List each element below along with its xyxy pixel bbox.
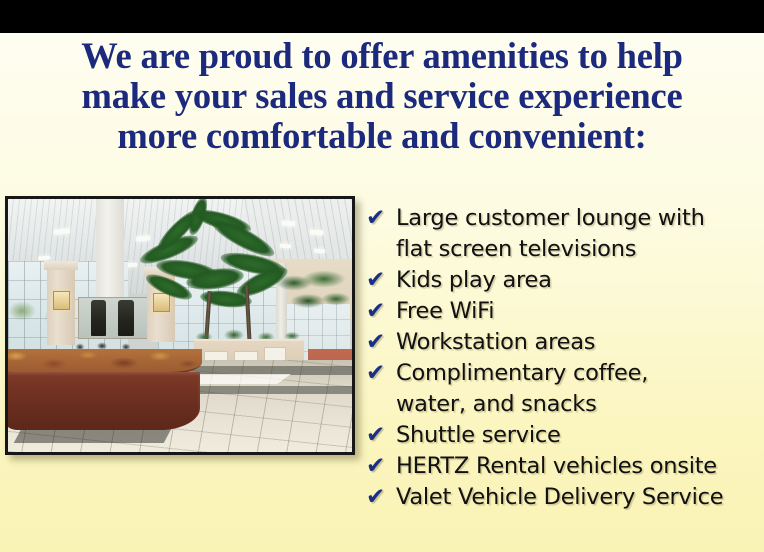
- photo-ceiling-light: [314, 249, 325, 254]
- list-item-label: Complimentary coffee, water, and snacks: [396, 358, 762, 420]
- list-item: ✔ Complimentary coffee, water, and snack…: [366, 358, 762, 420]
- list-item-label: Workstation areas: [396, 327, 762, 358]
- page-title-line-3: more comfortable and convenient:: [0, 116, 764, 156]
- list-item-line: Complimentary coffee,: [396, 360, 648, 386]
- list-item: ✔ HERTZ Rental vehicles onsite: [366, 451, 762, 482]
- list-item-label: Large customer lounge with flat screen t…: [396, 203, 762, 265]
- checkmark-icon: ✔: [366, 420, 396, 451]
- photo-ceiling-light: [310, 229, 323, 235]
- photo-wall-sconce: [53, 291, 70, 310]
- list-item: ✔ Shuttle service: [366, 420, 762, 451]
- list-item-line: water, and snacks: [396, 389, 762, 420]
- photo-palm-trees-right: [268, 265, 350, 331]
- lobby-photo: [5, 196, 355, 455]
- page-title-line-2: make your sales and service experience: [0, 76, 764, 116]
- checkmark-icon: ✔: [366, 482, 396, 513]
- list-item-label: HERTZ Rental vehicles onsite: [396, 451, 762, 482]
- list-item-line: Workstation areas: [396, 329, 595, 355]
- list-item: ✔ Free WiFi: [366, 296, 762, 327]
- list-item: ✔ Kids play area: [366, 265, 762, 296]
- photo-column: [96, 199, 124, 309]
- amenities-list: ✔ Large customer lounge with flat screen…: [366, 203, 762, 513]
- list-item-label: Shuttle service: [396, 420, 762, 451]
- list-item-line: Large customer lounge with: [396, 205, 705, 231]
- checkmark-icon: ✔: [366, 265, 396, 296]
- lobby-photo-content: [8, 199, 352, 452]
- list-item: ✔ Valet Vehicle Delivery Service: [366, 482, 762, 513]
- list-item-line: HERTZ Rental vehicles onsite: [396, 453, 717, 479]
- list-item-line: Free WiFi: [396, 298, 494, 324]
- list-item-line: flat screen televisions: [396, 234, 762, 265]
- checkmark-icon: ✔: [366, 203, 396, 234]
- list-item-label: Free WiFi: [396, 296, 762, 327]
- page-title-line-1: We are proud to offer amenities to help: [0, 36, 764, 76]
- checkmark-icon: ✔: [366, 327, 396, 358]
- photo-desk-countertop: [8, 349, 202, 374]
- checkmark-icon: ✔: [366, 296, 396, 327]
- list-item-line: Shuttle service: [396, 422, 561, 448]
- list-item-label: Valet Vehicle Delivery Service: [396, 482, 762, 513]
- slide: We are proud to offer amenities to help …: [0, 0, 764, 552]
- list-item-line: Kids play area: [396, 267, 552, 293]
- list-item: ✔ Large customer lounge with flat screen…: [366, 203, 762, 265]
- checkmark-icon: ✔: [366, 451, 396, 482]
- list-item-label: Kids play area: [396, 265, 762, 296]
- page-title: We are proud to offer amenities to help …: [0, 36, 764, 156]
- checkmark-icon: ✔: [366, 358, 396, 389]
- photo-statue: [91, 300, 106, 336]
- photo-pillar-cap: [44, 261, 78, 270]
- list-item-line: Valet Vehicle Delivery Service: [396, 484, 723, 510]
- photo-desk-base: [8, 372, 200, 430]
- photo-reception-desk: [8, 349, 202, 433]
- top-black-band: [0, 0, 764, 33]
- photo-statue: [118, 300, 134, 336]
- list-item: ✔ Workstation areas: [366, 327, 762, 358]
